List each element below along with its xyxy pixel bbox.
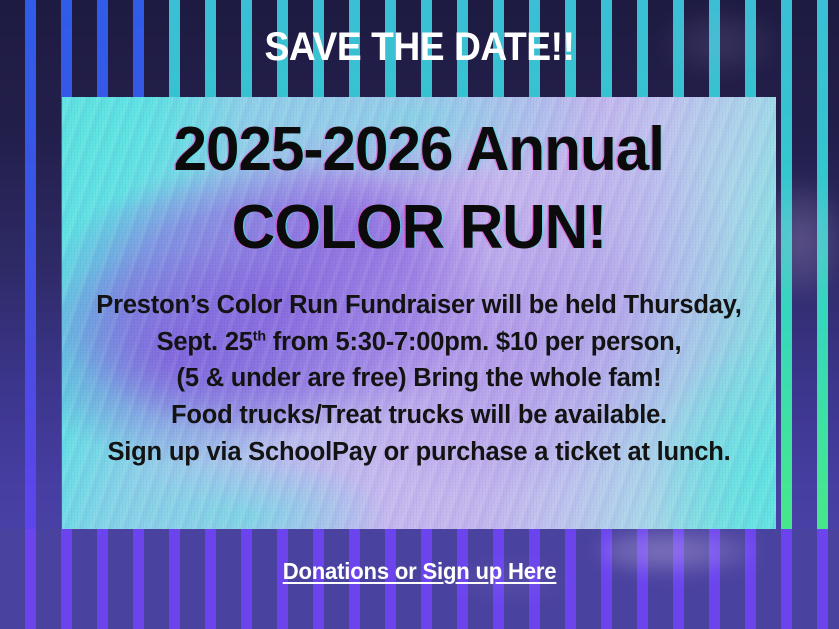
title-line-event: COLOR RUN! — [232, 197, 606, 259]
detail-line-fundraiser: Preston’s Color Run Fundraiser will be h… — [62, 287, 776, 324]
title-line-year: 2025-2026 Annual — [174, 119, 664, 181]
flyer-canvas: SAVE THE DATE!! 2025-2026 Annual COLOR R… — [0, 0, 839, 629]
detail-line-food-trucks: Food trucks/Treat trucks will be availab… — [62, 397, 776, 434]
detail-line-signup: Sign up via SchoolPay or purchase a tick… — [62, 434, 776, 471]
footer-link-container: Donations or Sign up Here — [0, 558, 839, 585]
watercolor-card: 2025-2026 Annual COLOR RUN! Preston’s Co… — [62, 97, 776, 529]
donations-signup-link[interactable]: Donations or Sign up Here — [283, 558, 557, 585]
event-details-block: Preston’s Color Run Fundraiser will be h… — [62, 287, 776, 471]
card-content: 2025-2026 Annual COLOR RUN! Preston’s Co… — [62, 97, 776, 529]
detail-line-free-ages: (5 & under are free) Bring the whole fam… — [62, 360, 776, 397]
save-the-date-headline: SAVE THE DATE!! — [29, 26, 809, 68]
detail-date-prefix: Sept. 25 — [157, 328, 253, 356]
detail-date-ordinal: th — [253, 328, 266, 344]
detail-date-suffix: from 5:30-7:00pm. $10 per person, — [266, 328, 682, 356]
detail-line-date-time: Sept. 25th from 5:30-7:00pm. $10 per per… — [62, 324, 776, 361]
